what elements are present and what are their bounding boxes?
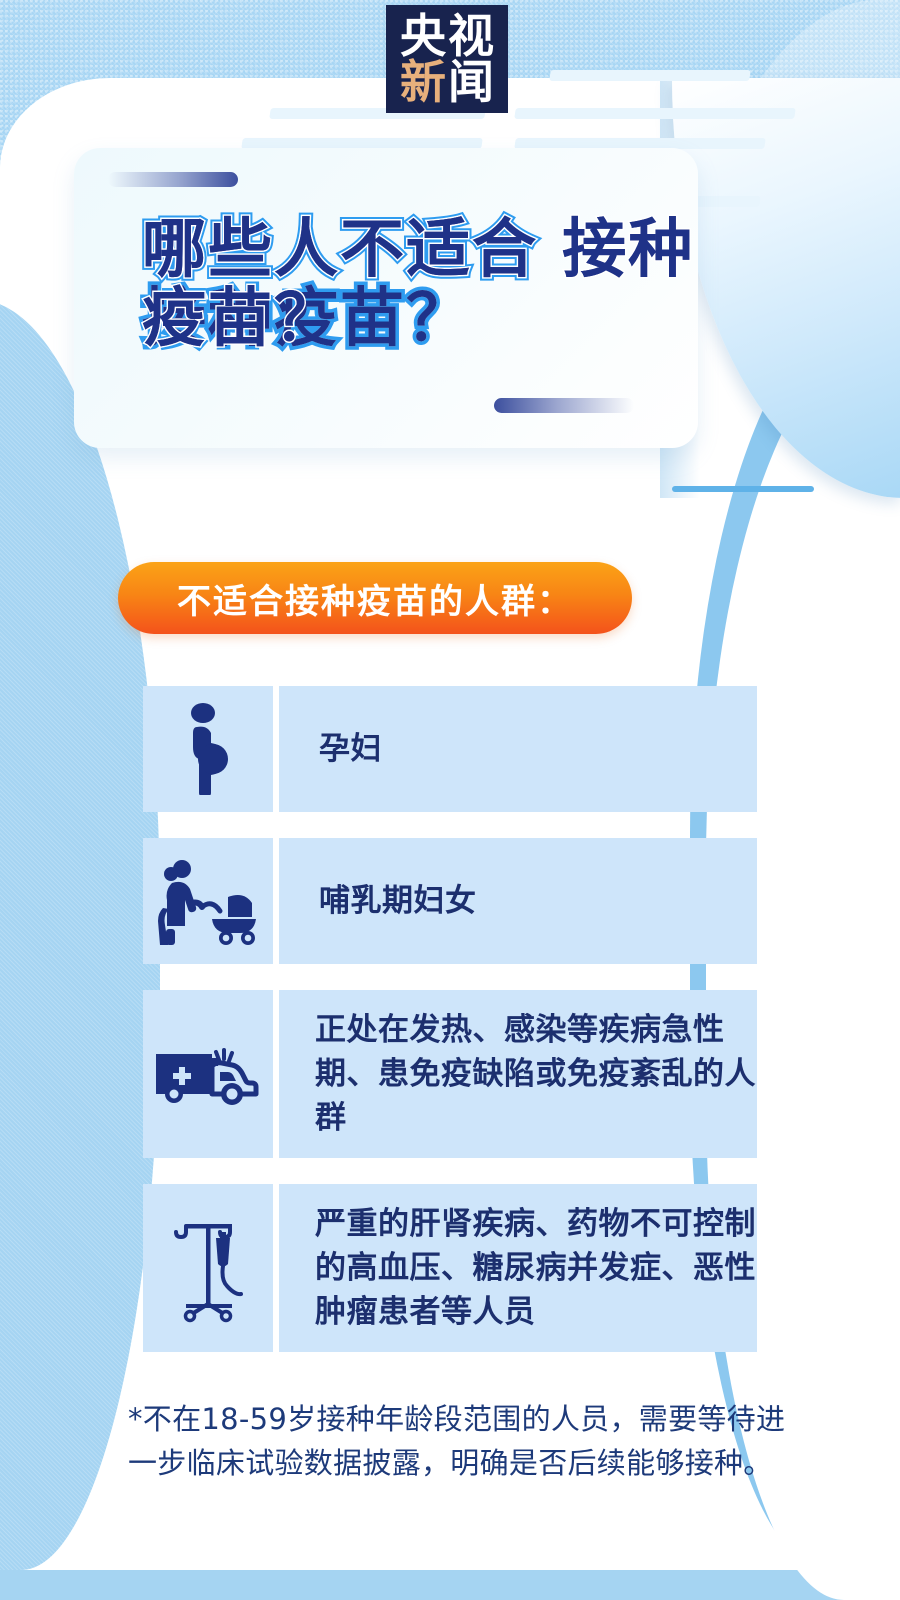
- page-title: 哪些人不适合 接种疫苗？: [142, 216, 702, 354]
- icon-cell: [143, 838, 273, 964]
- contraindication-list: 孕妇 哺乳期妇女: [143, 686, 757, 1378]
- icon-cell: [143, 686, 273, 812]
- page-title-line-1: 哪些人不适合: [142, 213, 538, 287]
- list-item-label: 严重的肝肾疾病、药物不可控制的高血压、糖尿病并发症、恶性肿瘤患者等人员: [315, 1202, 757, 1334]
- list-item: 严重的肝肾疾病、药物不可控制的高血压、糖尿病并发症、恶性肿瘤患者等人员: [143, 1184, 757, 1352]
- logo-char-xin: 新: [400, 59, 446, 105]
- paper-curl-edge: [672, 486, 814, 492]
- woman-with-stroller-icon: [154, 857, 262, 945]
- pregnant-woman-icon: [177, 703, 239, 795]
- title-card: 哪些人不适合 接种疫苗？ 哪些人不适合 接种疫苗？ 哪些人不适合 接种疫苗？: [74, 148, 698, 448]
- list-item-label: 哺乳期妇女: [319, 879, 477, 923]
- ambulance-icon: [152, 1036, 264, 1112]
- text-cell: 孕妇: [279, 686, 757, 812]
- decorative-dash-top-left: [108, 172, 238, 187]
- icon-cell: [143, 1184, 273, 1352]
- list-item: 哺乳期妇女: [143, 838, 757, 964]
- logo-char-wen: 闻: [448, 59, 494, 105]
- text-cell: 正处在发热、感染等疾病急性期、患免疫缺陷或免疫紊乱的人群: [279, 990, 757, 1158]
- decorative-dash-bottom-right: [494, 398, 634, 413]
- list-item: 孕妇: [143, 686, 757, 812]
- section-header-pill: 不适合接种疫苗的人群：: [118, 562, 632, 634]
- iv-drip-stand-icon: [168, 1212, 248, 1324]
- text-cell: 严重的肝肾疾病、药物不可控制的高血压、糖尿病并发症、恶性肿瘤患者等人员: [279, 1184, 757, 1352]
- list-item-label: 正处在发热、感染等疾病急性期、患免疫缺陷或免疫紊乱的人群: [315, 1008, 757, 1140]
- logo-char-yang: 央: [400, 13, 446, 59]
- decorative-line: [514, 108, 796, 119]
- logo-char-shi: 视: [448, 13, 494, 59]
- icon-cell: [143, 990, 273, 1158]
- decorative-line: [549, 70, 751, 81]
- text-cell: 哺乳期妇女: [279, 838, 757, 964]
- logo-line-2: 新 闻: [400, 59, 494, 105]
- logo-line-1: 央 视: [400, 13, 494, 59]
- list-item-label: 孕妇: [319, 727, 382, 771]
- list-item: 正处在发热、感染等疾病急性期、患免疫缺陷或免疫紊乱的人群: [143, 990, 757, 1158]
- section-header-label: 不适合接种疫苗的人群：: [177, 574, 573, 623]
- cctv-news-logo: 央 视 新 闻: [386, 5, 508, 113]
- footnote: *不在18-59岁接种年龄段范围的人员，需要等待进一步临床试验数据披露，明确是否…: [128, 1398, 788, 1485]
